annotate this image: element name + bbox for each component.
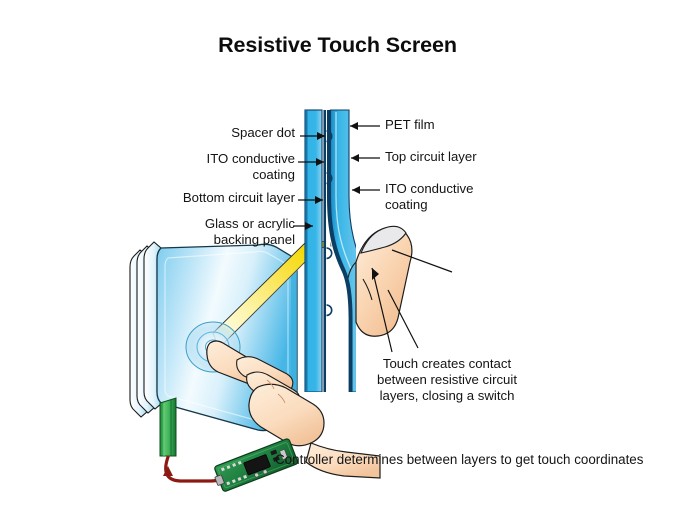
label-ito-conductive-coating-top: ITO conductive coating xyxy=(385,181,585,213)
arrowhead-ito-top xyxy=(352,186,360,194)
annotation-controller-determines: Controller determines between layers to … xyxy=(275,452,670,468)
arrowhead-pet-film xyxy=(350,122,358,130)
leader-lines-right xyxy=(350,122,380,194)
label-top-circuit-layer: Top circuit layer xyxy=(385,149,585,165)
label-ito-conductive-coating-bottom: ITO conductive coating xyxy=(120,151,295,183)
hand-palm xyxy=(249,384,324,446)
annotation-touch-creates-contact: Touch creates contact between resistive … xyxy=(352,356,542,404)
wire-path xyxy=(166,457,221,481)
flex-cable xyxy=(160,398,176,456)
label-pet-film: PET film xyxy=(385,117,585,133)
diagram-stage: Resistive Touch Screen xyxy=(0,0,675,506)
flex-cable-ribbon xyxy=(160,398,176,456)
label-spacer-dot: Spacer dot xyxy=(120,125,295,141)
label-glass-or-acrylic-backing-panel: Glass or acrylic backing panel xyxy=(110,216,295,248)
pressing-fingertip xyxy=(348,226,412,336)
controller-wire xyxy=(163,457,221,481)
resistive-touch-screen-illustration xyxy=(0,0,675,506)
label-bottom-circuit-layer: Bottom circuit layer xyxy=(110,190,295,206)
arrowhead-top-circuit xyxy=(351,154,359,162)
